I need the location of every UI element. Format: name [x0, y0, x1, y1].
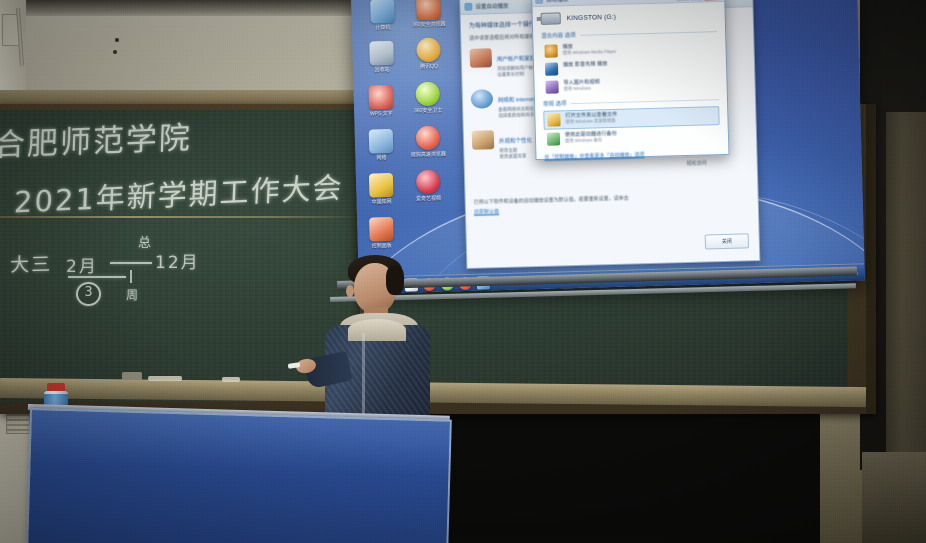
qq-icon [416, 38, 441, 63]
presenter-hair-side [386, 265, 404, 295]
maximize-icon[interactable] [690, 0, 703, 1]
import-pictures-icon [545, 80, 558, 93]
control-panel-icon [369, 217, 394, 242]
blackboard-note-end: 12月 [155, 248, 200, 273]
wall-screw-dot [115, 38, 119, 42]
desktop-icon-0[interactable]: 计算机 [359, 0, 406, 32]
backup-icon [547, 132, 560, 145]
background-window-title: 设置自动播放 [475, 2, 508, 11]
blackboard-note-bottom: 周 [126, 286, 140, 303]
blackboard-note-grade: 大三 [10, 249, 53, 277]
blue-podium-desk [26, 408, 452, 543]
autoplay-option-backup[interactable]: 使用此驱动器进行备份 使用 Windows 备份 [544, 126, 720, 148]
desktop-icon-label: 搜狗高速浏览器 [405, 151, 451, 158]
chalk-stick [148, 376, 182, 381]
blackboard-dash-mark [110, 262, 152, 264]
classroom-scene: 合肥师范学院 2021年新学期工作大会 大三 2月 12月 总 周 3 计算机 [0, 0, 926, 543]
option-text: 使用此驱动器进行备份 使用 Windows 备份 [565, 131, 617, 144]
blackboard-tick-mark [130, 270, 132, 283]
presenter-ear [346, 285, 354, 297]
minimize-icon[interactable] [676, 0, 689, 1]
desktop-icon-7[interactable]: 搜狗高速浏览器 [405, 125, 452, 158]
autoplay-dialog[interactable]: 自动播放 KINGSTON (G:) 混合内容 选项 [531, 0, 729, 160]
blackboard-note-top: 总 [138, 232, 153, 251]
blackboard-eraser [122, 372, 142, 380]
desktop-icon-label: 网络 [358, 155, 404, 162]
section-rule [571, 99, 719, 104]
window-controls [676, 0, 721, 1]
desktop-icon-9[interactable]: 爱奇艺视频 [405, 169, 452, 202]
option-title: 播放 影音先锋 播放 [563, 61, 608, 68]
chalk-stick [222, 377, 240, 382]
desktop-icon-3[interactable]: 腾讯QQ [405, 37, 452, 70]
control-panel-note: 已将以下软件和设备的自动播放设置为默认值，若要重新设置，请单击 还原默认值 [474, 192, 714, 215]
window-app-icon [464, 3, 472, 11]
option-text: 播放 使用 Windows Media Player [562, 43, 616, 56]
wall-screw-dot [113, 50, 117, 54]
desktop-icon-8[interactable]: 中国知网 [358, 173, 405, 206]
right-wall-base [862, 452, 926, 543]
network-icon [369, 129, 394, 154]
row-title: 网络和 Internet [498, 97, 535, 104]
blackboard-note-start: 2月 [66, 252, 98, 277]
desktop-icon-2[interactable]: 回收站 [358, 41, 405, 74]
right-wall-panel [886, 112, 926, 492]
close-button[interactable]: 关闭 [705, 233, 749, 249]
blackboard-fraction-bar [68, 276, 126, 278]
section-rule [580, 31, 717, 36]
appearance-icon [472, 130, 495, 150]
presenter-collar [348, 319, 406, 341]
projected-desktop: 计算机 360安全浏览器 回收站 腾讯QQ WPS 文字 360安全卫士 [351, 0, 865, 294]
autoplay-drive-row: KINGSTON (G:) [541, 8, 717, 25]
desktop-icon-1[interactable]: 360安全浏览器 [405, 0, 452, 29]
cnki-icon [369, 173, 394, 198]
desktop-icon-4[interactable]: WPS 文字 [357, 85, 404, 118]
autoplay-option-import-pictures[interactable]: 导入图片和视频 使用 Windows [542, 74, 718, 96]
desktop-icon-label: 中国知网 [359, 199, 405, 206]
desktop-icon-label: WPS 文字 [358, 111, 404, 118]
blackboard-heading-line1: 合肥师范学院 [0, 112, 193, 165]
recycle-bin-icon [369, 41, 394, 66]
water-bottle-label [44, 394, 68, 405]
presenter [300, 255, 450, 430]
autoplay-body: KINGSTON (G:) 混合内容 选项 播放 使用 Windows Medi… [532, 2, 728, 161]
blackboard-circled-number: 3 [76, 282, 101, 306]
option-text: 打开文件夹以查看文件 使用 Windows 资源管理器 [565, 112, 617, 125]
blackboard-divider-line [0, 216, 360, 218]
video-player-icon [545, 62, 558, 75]
option-sub: 使用 Windows 资源管理器 [565, 118, 617, 125]
desktop-icon-label: 腾讯QQ [406, 63, 452, 70]
presenter-jacket-zipper [362, 333, 365, 423]
option-text: 播放 影音先锋 播放 [563, 61, 608, 68]
option-sub: 使用 Windows Media Player [563, 49, 617, 56]
wps-writer-icon [368, 85, 393, 110]
desktop-icon-label: 回收站 [359, 67, 405, 74]
desktop-icon-5[interactable]: 360安全卫士 [404, 81, 451, 114]
desk-sheen [30, 410, 449, 476]
desktop-icon-10[interactable]: 控制面板 [358, 217, 405, 250]
desktop-icon-label: 360安全浏览器 [406, 21, 452, 28]
media-section-label: 混合内容 选项 [541, 31, 576, 40]
autoplay-title: 自动播放 [546, 0, 673, 3]
iqiyi-icon [416, 170, 441, 195]
browser-360-icon [416, 0, 441, 20]
open-folder-icon [547, 113, 560, 126]
right-label-2: 轻松访问 [687, 158, 751, 167]
blackboard-heading-line2: 2021年新学期工作大会 [13, 164, 344, 221]
autoplay-app-icon [535, 0, 543, 4]
desktop-icon-label: 360安全卫士 [405, 107, 451, 114]
option-text: 导入图片和视频 使用 Windows [563, 79, 600, 91]
usb-drive-icon [541, 12, 561, 25]
desktop-icon-label: 爱奇艺视频 [406, 195, 452, 202]
drive-name-label: KINGSTON (G:) [567, 13, 617, 21]
computer-icon [370, 0, 395, 23]
security-360-icon [415, 82, 440, 107]
general-section-label: 常规 选项 [543, 99, 567, 108]
option-sub: 使用 Windows [564, 85, 600, 91]
desktop-icon-6[interactable]: 网络 [358, 129, 405, 162]
row-title: 外观和个性化 [499, 138, 532, 145]
home-icon [470, 48, 493, 68]
network-globe-icon [471, 89, 494, 109]
desktop-icon-label: 控制面板 [359, 243, 405, 250]
projection-screen: 计算机 360安全浏览器 回收站 腾讯QQ WPS 文字 360安全卫士 [351, 0, 865, 294]
desktop-icon-label: 计算机 [360, 25, 406, 32]
media-play-icon [544, 44, 557, 57]
sogou-browser-icon [416, 126, 441, 151]
option-sub: 使用 Windows 备份 [565, 137, 617, 144]
